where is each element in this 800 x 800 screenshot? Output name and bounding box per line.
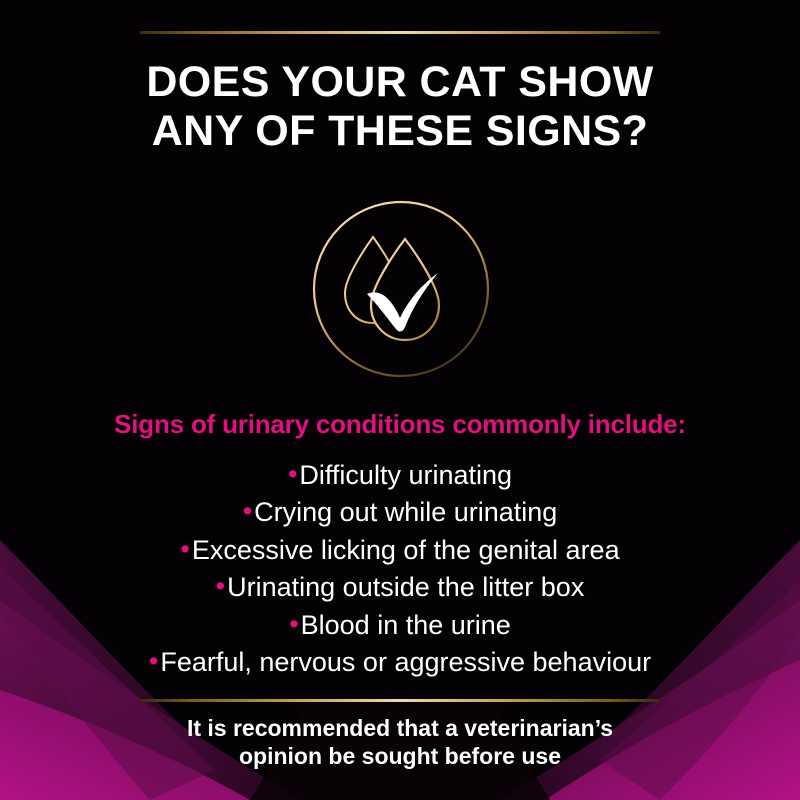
headline-line-2: ANY OF THESE SIGNS?: [0, 107, 800, 156]
list-item: •Excessive licking of the genital area: [0, 531, 800, 568]
page-title: DOES YOUR CAT SHOW ANY OF THESE SIGNS?: [0, 58, 800, 155]
list-item: •Blood in the urine: [0, 606, 800, 643]
poster-canvas: DOES YOUR CAT SHOW ANY OF THESE SIGNS?: [0, 0, 800, 800]
footer-line-1: It is recommended that a veterinarian’s: [0, 714, 800, 742]
footer-line-2: opinion be sought before use: [0, 742, 800, 770]
list-item-label: Fearful, nervous or aggressive behaviour: [160, 647, 651, 677]
list-item: •Urinating outside the litter box: [0, 568, 800, 605]
list-item: •Fearful, nervous or aggressive behaviou…: [0, 643, 800, 680]
list-item-label: Crying out while urinating: [254, 497, 557, 527]
bullet-icon: •: [243, 496, 252, 526]
section-subheading: Signs of urinary conditions commonly inc…: [0, 409, 800, 440]
signs-list: •Difficulty urinating •Crying out while …: [0, 456, 800, 680]
water-drops-check-icon: [311, 199, 491, 379]
bullet-icon: •: [149, 646, 158, 676]
gold-divider-top: [140, 31, 660, 34]
bullet-icon: •: [180, 534, 189, 564]
list-item-label: Excessive licking of the genital area: [192, 535, 620, 565]
list-item-label: Blood in the urine: [301, 610, 511, 640]
list-item-label: Difficulty urinating: [299, 460, 512, 490]
bullet-icon: •: [288, 459, 297, 489]
list-item-label: Urinating outside the litter box: [227, 572, 584, 602]
bullet-icon: •: [289, 609, 298, 639]
gold-divider-bottom: [140, 699, 660, 702]
list-item: •Difficulty urinating: [0, 456, 800, 493]
list-item: •Crying out while urinating: [0, 493, 800, 530]
footer-recommendation: It is recommended that a veterinarian’s …: [0, 714, 800, 770]
headline-line-1: DOES YOUR CAT SHOW: [0, 58, 800, 107]
bullet-icon: •: [216, 571, 225, 601]
